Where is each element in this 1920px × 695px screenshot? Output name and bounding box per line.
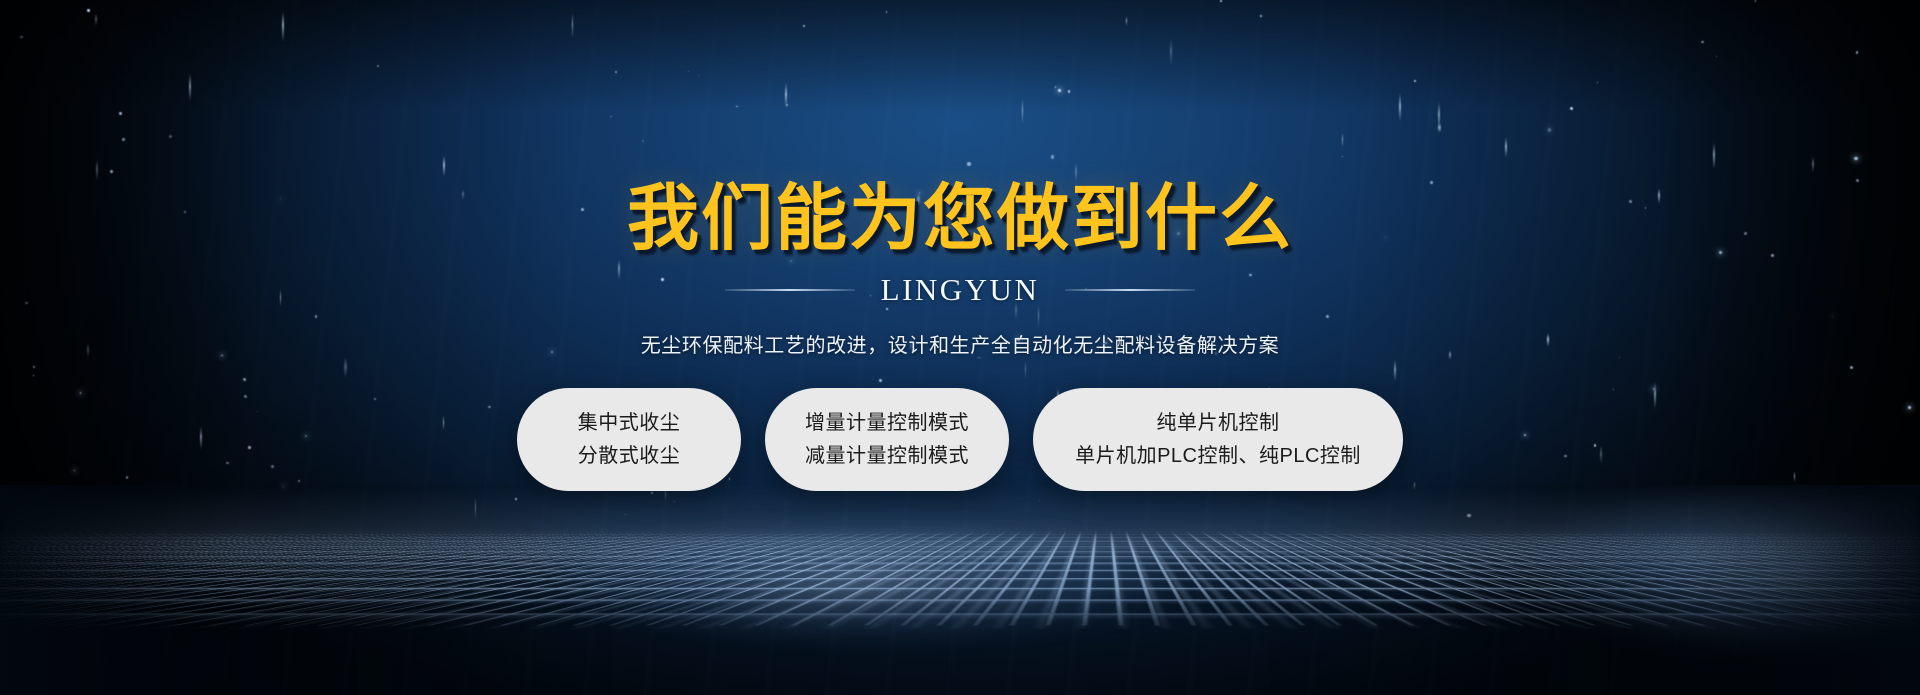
feature-pill-metering-control-mode[interactable]: 增量计量控制模式 减量计量控制模式 <box>765 388 1009 491</box>
divider-line-right <box>1065 289 1195 291</box>
pill-line: 纯单片机控制 <box>1157 412 1280 435</box>
feature-pill-group: 集中式收尘 分散式收尘 增量计量控制模式 减量计量控制模式 纯单片机控制 单片机… <box>517 388 1403 491</box>
feature-pill-dust-collection[interactable]: 集中式收尘 分散式收尘 <box>517 388 741 491</box>
pill-line: 分散式收尘 <box>578 445 681 468</box>
banner-description: 无尘环保配料工艺的改进，设计和生产全自动化无尘配料设备解决方案 <box>641 329 1280 358</box>
pill-line: 集中式收尘 <box>578 412 681 435</box>
page-title: 我们能为您做到什么 <box>627 182 1293 254</box>
pill-line: 减量计量控制模式 <box>805 445 969 468</box>
pill-line: 单片机加PLC控制、纯PLC控制 <box>1075 445 1361 468</box>
brand-subtitle-row: LINGYUN <box>725 272 1196 308</box>
divider-line-left <box>725 289 855 291</box>
feature-pill-controller-type[interactable]: 纯单片机控制 单片机加PLC控制、纯PLC控制 <box>1033 388 1403 491</box>
pill-line: 增量计量控制模式 <box>805 412 969 435</box>
banner-content: 我们能为您做到什么 LINGYUN 无尘环保配料工艺的改进，设计和生产全自动化无… <box>0 0 1920 695</box>
hero-banner: 我们能为您做到什么 LINGYUN 无尘环保配料工艺的改进，设计和生产全自动化无… <box>0 0 1920 695</box>
brand-name-en: LINGYUN <box>881 272 1040 308</box>
